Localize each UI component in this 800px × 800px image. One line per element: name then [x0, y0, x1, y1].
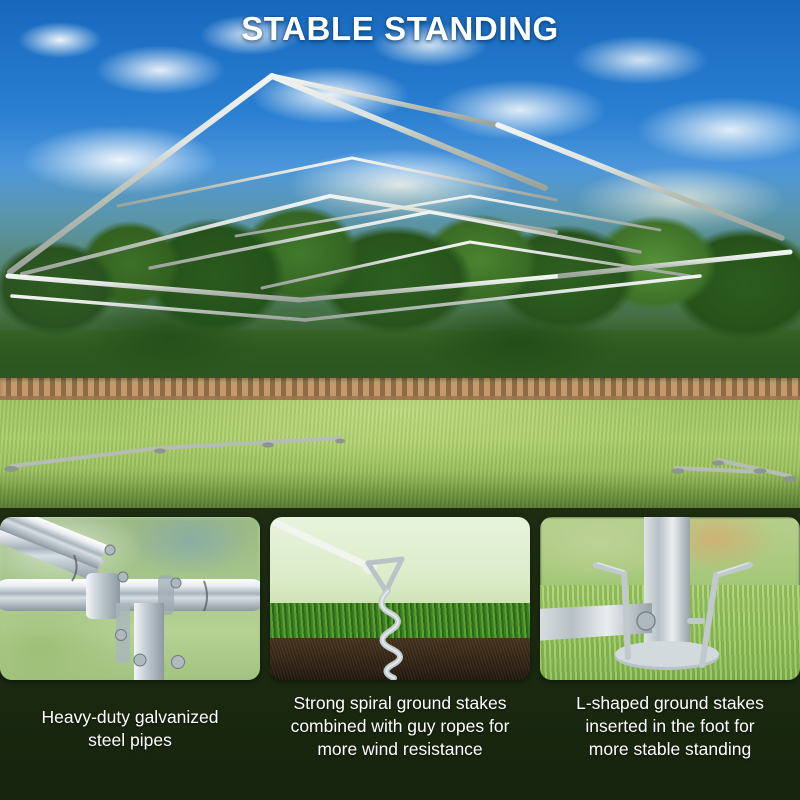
caption-l-stake-foot: L-shaped ground stakes inserted in the f… — [540, 692, 800, 761]
caption-line: Strong spiral ground stakes — [276, 692, 524, 715]
caption-spiral-stake: Strong spiral ground stakes combined wit… — [270, 692, 530, 761]
caption-line: more stable standing — [546, 738, 794, 761]
l-stake-foot-graphic — [540, 517, 800, 680]
pipe-joint-graphic — [0, 517, 260, 680]
caption-line: more wind resistance — [276, 738, 524, 761]
caption-line: inserted in the foot for — [546, 715, 794, 738]
caption-line: steel pipes — [6, 729, 254, 752]
spiral-stake-graphic — [270, 517, 530, 680]
feature-caption-row: Heavy-duty galvanized steel pipes Strong… — [0, 692, 800, 761]
feature-image-l-stake-foot[interactable] — [540, 517, 800, 680]
hero-section: STABLE STANDING — [0, 0, 800, 510]
product-feature-image: STABLE STANDING — [0, 0, 800, 800]
carport-frame-illustration — [0, 0, 800, 510]
feature-image-spiral-stake[interactable] — [270, 517, 530, 680]
hero-title: STABLE STANDING — [0, 10, 800, 48]
feature-image-pipe-joint[interactable] — [0, 517, 260, 680]
caption-line: Heavy-duty galvanized — [6, 706, 254, 729]
caption-line: L-shaped ground stakes — [546, 692, 794, 715]
caption-pipe-joint: Heavy-duty galvanized steel pipes — [0, 692, 260, 761]
feature-thumbnail-row — [0, 517, 800, 680]
caption-line: combined with guy ropes for — [276, 715, 524, 738]
